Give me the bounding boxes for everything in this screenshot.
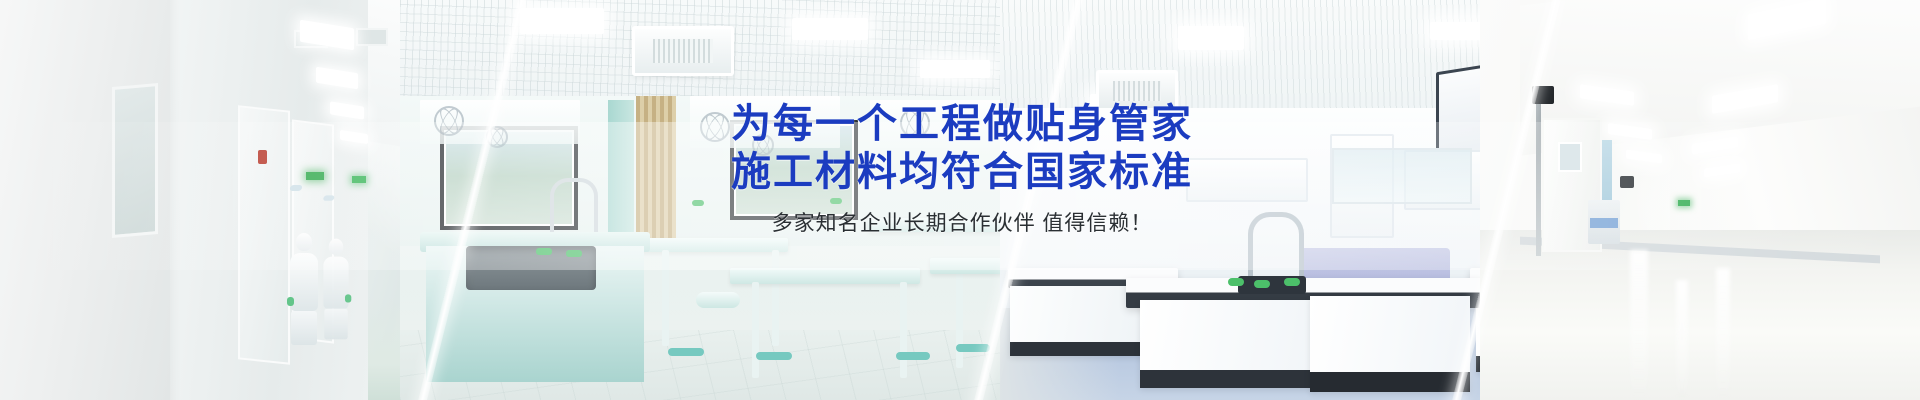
headline-line-2: 施工材料均符合国家标准: [612, 148, 1312, 196]
island-cabinet: [1310, 296, 1470, 392]
ceiling-lamp-icon: [920, 60, 990, 78]
faucet-handle: [1228, 278, 1244, 286]
hospital-corridor-scene: [1480, 0, 1920, 400]
headline-block: 为每一个工程做贴身管家 施工材料均符合国家标准 多家知名企业长期合作伙伴 值得信…: [612, 100, 1312, 238]
cleanroom-worker: [323, 239, 348, 340]
worker-glove: [345, 294, 351, 302]
fire-alarm-icon: [258, 150, 267, 164]
faucet-handle: [536, 248, 552, 255]
floor-reflection: [1716, 268, 1730, 400]
corridor-door-a: [238, 105, 290, 364]
exit-sign-icon: [352, 176, 366, 183]
desk-foot: [956, 344, 990, 352]
atom-decal-icon: [434, 106, 464, 136]
worker-glove: [287, 297, 294, 306]
floor-reflection: [1676, 280, 1688, 400]
worker-legs: [291, 311, 317, 345]
desk-leg: [956, 272, 963, 368]
worker-suit: [290, 253, 318, 311]
door-window: [1558, 142, 1582, 172]
faucet-handle: [1254, 280, 1270, 288]
student-lab-desk: [730, 268, 920, 284]
exit-sign-icon: [1678, 200, 1690, 206]
cleanroom-worker: [290, 233, 318, 345]
ceiling-lamp-icon: [792, 18, 868, 40]
panel-hospital-corridor: [1480, 0, 1920, 400]
foreground-door: [0, 0, 170, 400]
island-cabinet: [1140, 300, 1316, 388]
headline-line-1: 为每一个工程做贴身管家: [612, 100, 1312, 148]
ceiling-ac-unit-icon: [632, 26, 734, 76]
door-sensor-icon: [1620, 176, 1634, 188]
glass-shelf: [1332, 148, 1472, 204]
exit-sign-icon: [306, 172, 324, 180]
worker-head: [329, 239, 343, 255]
desk-foot: [668, 348, 704, 356]
desk-leg: [900, 282, 907, 378]
lab-stool: [696, 292, 740, 308]
ceiling-lamp-icon: [1178, 26, 1244, 50]
door-rail: [1536, 96, 1541, 256]
ceiling-lamp-icon: [1626, 149, 1662, 163]
hero-banner: 为每一个工程做贴身管家 施工材料均符合国家标准 多家知名企业长期合作伙伴 值得信…: [0, 0, 1920, 400]
desk-leg: [752, 282, 759, 378]
desk-leg: [662, 250, 669, 346]
desk-foot: [756, 352, 792, 360]
floor-reflection: [1630, 250, 1648, 400]
desk-foot: [896, 352, 930, 360]
student-lab-desk: [638, 238, 788, 252]
ceiling-vent-icon: [356, 28, 388, 46]
desk-leg: [772, 250, 779, 346]
faucet-handle: [1284, 278, 1300, 286]
worker-head: [296, 233, 312, 251]
medical-cart: [1588, 200, 1620, 244]
door-window: [112, 83, 158, 238]
headline-subtitle: 多家知名企业长期合作伙伴 值得信赖！: [612, 210, 1312, 238]
worker-legs: [324, 309, 347, 340]
ceiling-lamp-icon: [520, 8, 604, 34]
faucet-handle: [566, 250, 582, 257]
